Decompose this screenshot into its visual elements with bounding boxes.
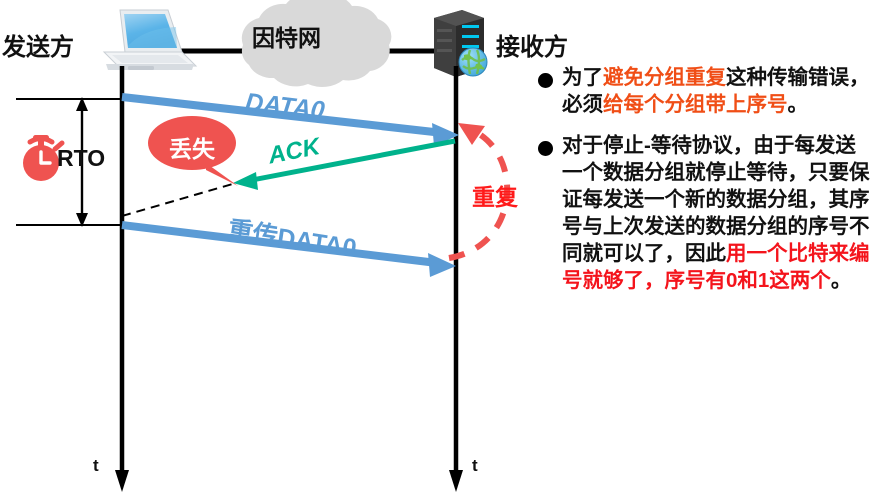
lost-label: 丢失 <box>154 130 230 164</box>
note-bullet-1: 为了避免分组重复这种传输错误，必须给每个分组带上序号。 <box>528 64 870 118</box>
sender-timeline <box>115 66 129 492</box>
duplicate-label: 重复 <box>472 178 518 212</box>
slide-canvas: 发送方 接收方 因特网 RTO t t DATA0 重传DATA0 ACK 丢失… <box>0 0 875 496</box>
note-segment: 。 <box>788 93 809 116</box>
receiver-label: 接收方 <box>496 27 568 62</box>
timeout-dashed-line <box>122 183 236 216</box>
laptop-icon <box>104 10 196 70</box>
sender-label: 发送方 <box>2 27 74 62</box>
bullet-dot-icon <box>528 64 562 88</box>
note-segment: 给每个分组带上序号 <box>603 93 788 116</box>
note-bullet-2-text: 对于停止-等待协议，由于每发送一个数据分组就停止等待，只要保证每发送一个新的数据… <box>562 132 870 294</box>
server-icon <box>434 10 487 77</box>
note-segment: 避免分组重复 <box>603 66 726 89</box>
receiver-timeline <box>449 66 463 492</box>
network-cloud-label: 因特网 <box>252 19 321 53</box>
note-bullet-1-text: 为了避免分组重复这种传输错误，必须给每个分组带上序号。 <box>562 64 870 118</box>
bullet-dot-icon <box>528 132 562 156</box>
note-segment: 为了 <box>562 66 603 89</box>
receiver-time-axis-label: t <box>472 456 478 476</box>
sender-time-axis-label: t <box>93 456 99 476</box>
note-segment: 。 <box>831 269 852 292</box>
note-bullet-2: 对于停止-等待协议，由于每发送一个数据分组就停止等待，只要保证每发送一个新的数据… <box>528 132 870 294</box>
notes-panel: 为了避免分组重复这种传输错误，必须给每个分组带上序号。 对于停止-等待协议，由于… <box>528 64 870 308</box>
rto-label: RTO <box>57 145 105 172</box>
